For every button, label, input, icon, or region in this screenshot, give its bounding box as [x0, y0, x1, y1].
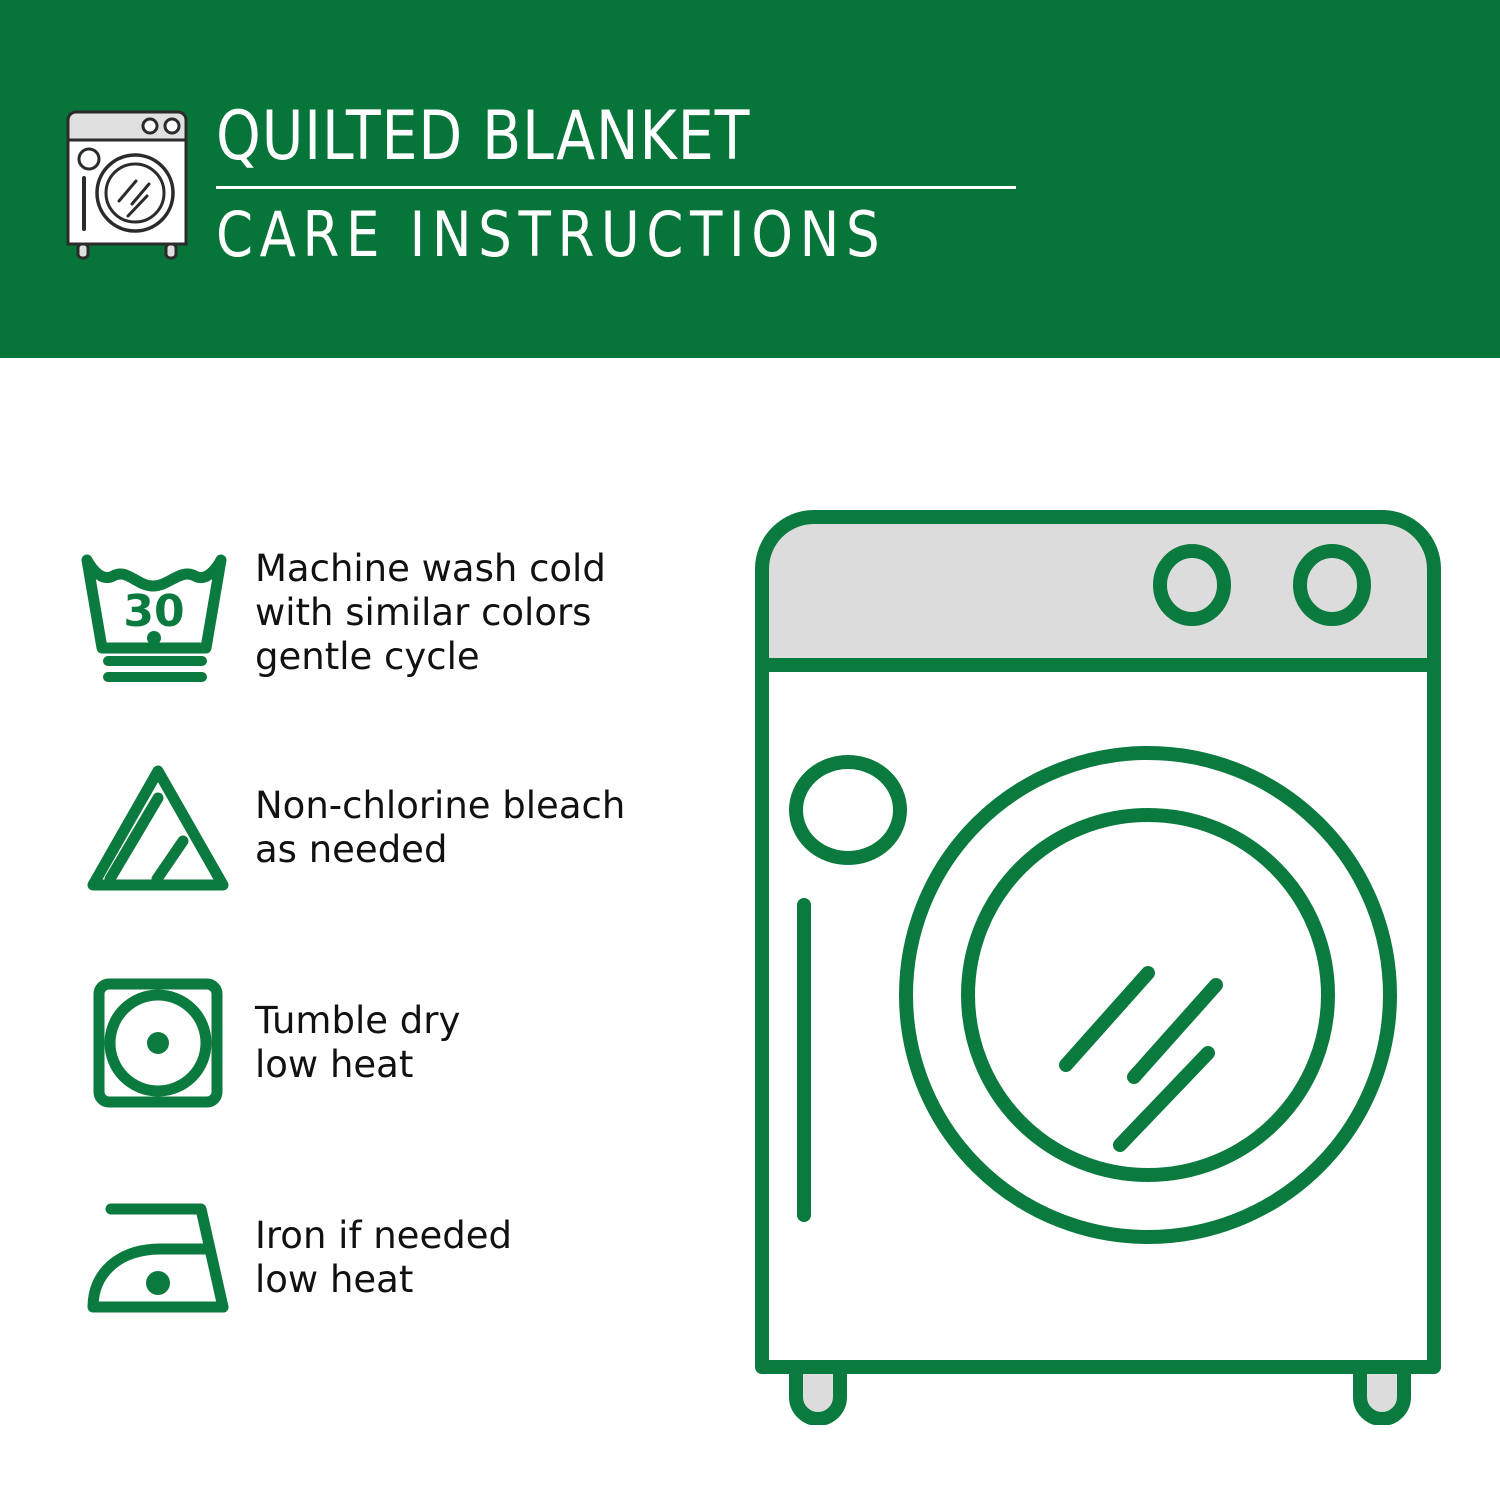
care-instructions-page: QUILTED BLANKET CARE INSTRUCTIONS 30 [0, 0, 1500, 1500]
header-title-block: QUILTED BLANKET CARE INSTRUCTIONS [216, 100, 1016, 270]
care-instruction-list: 30 Machine wash cold with similar colors… [70, 505, 710, 1365]
non-chlorine-bleach-triangle-icon [70, 753, 245, 903]
care-text-line: Iron if needed [255, 1214, 512, 1258]
washing-machine-icon [62, 104, 192, 264]
page-title: QUILTED BLANKET [216, 100, 960, 174]
care-text-line: with similar colors [255, 591, 606, 635]
care-text-line: low heat [255, 1043, 460, 1087]
care-text-line: low heat [255, 1258, 512, 1302]
care-text-line: gentle cycle [255, 635, 606, 679]
care-text: Non-chlorine bleach as needed [245, 784, 625, 872]
care-text-line: Non-chlorine bleach [255, 784, 625, 828]
header-banner: QUILTED BLANKET CARE INSTRUCTIONS [0, 0, 1500, 358]
wash-tub-30-gentle-icon: 30 [70, 538, 245, 688]
care-row: Tumble dry low heat [70, 935, 710, 1150]
care-row: Non-chlorine bleach as needed [70, 720, 710, 935]
title-divider [216, 186, 1016, 189]
care-text: Machine wash cold with similar colors ge… [245, 547, 606, 679]
care-text: Iron if needed low heat [245, 1214, 512, 1302]
care-text: Tumble dry low heat [245, 999, 460, 1087]
care-row: 30 Machine wash cold with similar colors… [70, 505, 710, 720]
svg-text:30: 30 [123, 586, 184, 637]
header-content: QUILTED BLANKET CARE INSTRUCTIONS [62, 100, 1016, 270]
page-subtitle: CARE INSTRUCTIONS [216, 200, 976, 270]
tumble-dry-low-heat-icon [70, 968, 245, 1118]
care-text-line: as needed [255, 828, 625, 872]
iron-low-heat-icon [70, 1183, 245, 1333]
care-row: Iron if needed low heat [70, 1150, 710, 1365]
care-text-line: Machine wash cold [255, 547, 606, 591]
front-load-washing-machine-illustration [748, 505, 1448, 1425]
care-text-line: Tumble dry [255, 999, 460, 1043]
